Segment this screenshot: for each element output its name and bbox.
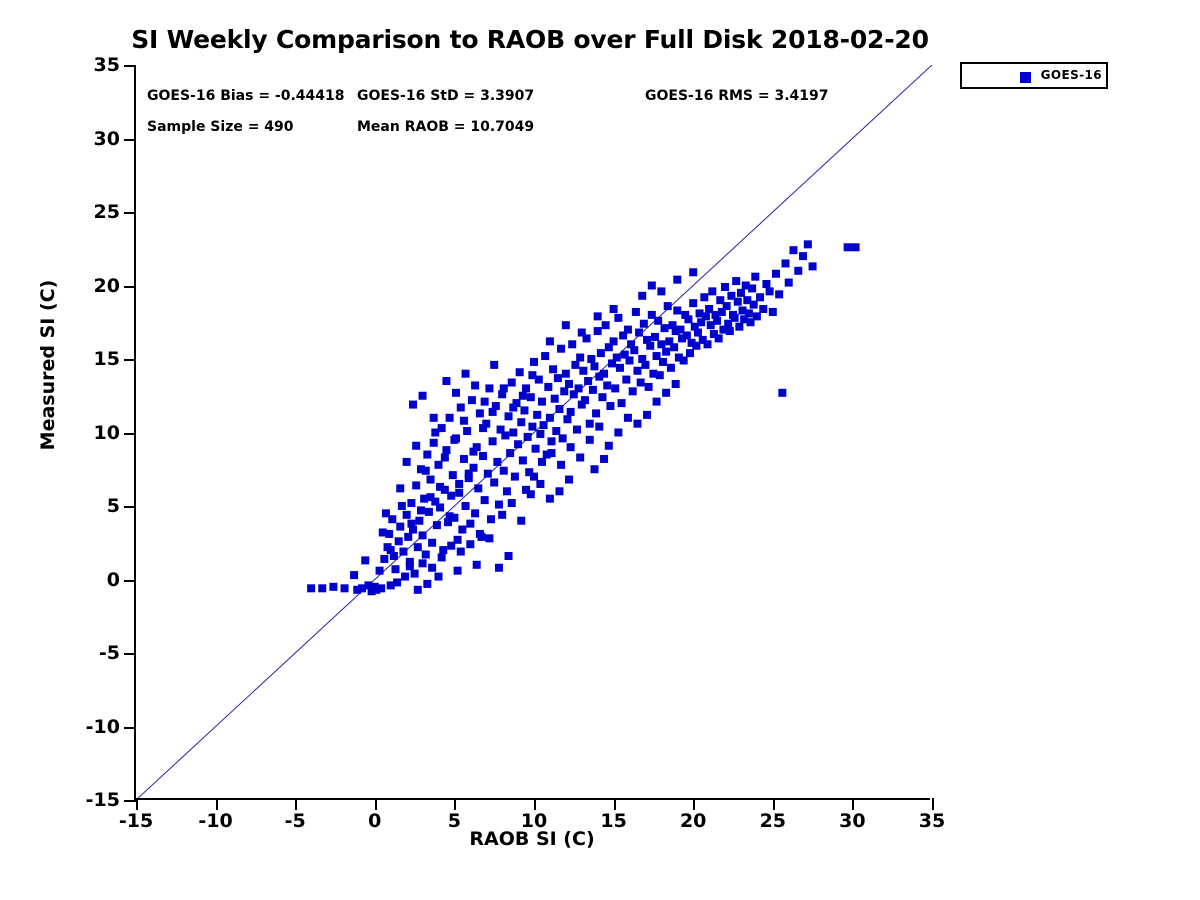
scatter-point [419,531,427,539]
scatter-point [559,434,567,442]
scatter-point [479,424,487,432]
scatter-point [527,393,535,401]
scatter-point [708,287,716,295]
scatter-point [546,337,554,345]
scatter-point [538,398,546,406]
scatter-point [508,499,516,507]
scatter-point [799,252,807,260]
scatter-point [673,306,681,314]
scatter-point [638,292,646,300]
x-axis-tick-label: 25 [760,810,786,832]
y-axis-tick [124,212,136,214]
scatter-point [700,293,708,301]
scatter-point [434,573,442,581]
scatter-point [748,284,756,292]
stat-mean-raob: Mean RAOB = 10.7049 [357,119,534,135]
scatter-point [782,259,790,267]
scatter-point [586,420,594,428]
scatter-point [427,476,435,484]
scatter-point [684,315,692,323]
scatter-point [646,342,654,350]
scatter-point [460,455,468,463]
scatter-point [476,409,484,417]
scatter-point [766,287,774,295]
y-axis-tick [124,506,136,508]
scatter-point [686,349,694,357]
scatter-point [505,552,513,560]
scatter-point [481,398,489,406]
y-axis-tick-label: 0 [107,569,120,591]
scatter-point [804,240,812,248]
x-axis-tick-label: 35 [919,810,945,832]
scatter-point [659,358,667,366]
scatter-point [399,548,407,556]
plot-area: -15-10-505101520253035-15-10-50510152025… [134,65,930,800]
scatter-point [522,384,530,392]
scatter-point [468,396,476,404]
scatter-point [750,301,758,309]
scatter-point [455,489,463,497]
scatter-point [540,421,548,429]
scatter-point [439,546,447,554]
scatter-point [414,586,422,594]
scatter-point [554,374,562,382]
y-axis-tick [124,139,136,141]
scatter-point [753,312,761,320]
scatter-point [391,565,399,573]
scatter-point [431,429,439,437]
scatter-point [732,277,740,285]
scatter-point [548,437,556,445]
scatter-point [411,570,419,578]
scatter-point [479,452,487,460]
scatter-point [419,559,427,567]
scatter-point [462,502,470,510]
scatter-point [423,451,431,459]
scatter-point [450,436,458,444]
scatter-point [562,321,570,329]
scatter-point [600,370,608,378]
scatter-point [452,389,460,397]
scatter-point [544,383,552,391]
scatter-point [489,408,497,416]
scatter-point [565,380,573,388]
y-axis-tick-label: 35 [94,54,120,76]
scatter-point [387,546,395,554]
scatter-point [614,429,622,437]
x-axis-tick [534,798,536,810]
scatter-point [715,334,723,342]
scatter-point [579,367,587,375]
y-axis-label: Measured SI (C) [37,265,59,465]
x-axis-tick-label: -5 [285,810,306,832]
scatter-point [672,380,680,388]
scatter-point [844,243,852,251]
scatter-point [485,384,493,392]
scatter-point [551,395,559,403]
scatter-point [557,345,565,353]
scatter-point [643,411,651,419]
scatter-point [611,384,619,392]
scatter-point [563,415,571,423]
scatter-point [562,370,570,378]
scatter-point [657,287,665,295]
scatter-point [735,323,743,331]
scatter-point [422,467,430,475]
scatter-point [694,329,702,337]
scatter-point [407,499,415,507]
scatter-point [721,283,729,291]
y-axis-tick-label: 15 [94,348,120,370]
scatter-point [552,427,560,435]
scatter-point [606,402,614,410]
scatter-point [487,515,495,523]
scatter-point [423,580,431,588]
y-axis-tick [124,727,136,729]
scatter-point [785,279,793,287]
scatter-point [473,561,481,569]
scatter-point [409,401,417,409]
scatter-point [622,376,630,384]
scatter-point [645,383,653,391]
scatter-point [635,329,643,337]
scatter-point [769,308,777,316]
scatter-point [493,458,501,466]
scatter-point [630,346,638,354]
scatter-point [481,496,489,504]
scatter-point [632,308,640,316]
one-to-one-line [136,65,932,800]
scatter-point [680,356,688,364]
scatter-point [589,386,597,394]
scatter-point [458,526,466,534]
scatter-point [403,458,411,466]
scatter-point [514,440,522,448]
scatter-point [449,471,457,479]
x-axis-tick [932,798,934,810]
scatter-point [329,583,337,591]
scatter-point [471,381,479,389]
x-axis-tick-label: -15 [119,810,153,832]
scatter-point [446,414,454,422]
scatter-point [457,548,465,556]
scatter-point [395,537,403,545]
scatter-point [511,473,519,481]
scatter-point [683,331,691,339]
scatter-point [489,437,497,445]
chart-title: SI Weekly Comparison to RAOB over Full D… [0,25,1060,54]
scatter-point [509,404,517,412]
scatter-point [737,289,745,297]
scatter-point [567,408,575,416]
scatter-point [626,356,634,364]
scatter-point [361,556,369,564]
scatter-point [415,517,423,525]
scatter-point [598,393,606,401]
scatter-point [624,414,632,422]
scatter-point [495,501,503,509]
scatter-point [462,370,470,378]
y-axis-tick-label: -5 [99,642,120,664]
scatter-point [427,493,435,501]
scatter-point [640,320,648,328]
scatter-point [673,276,681,284]
y-axis-tick [124,286,136,288]
scatter-point [412,481,420,489]
scatter-point [713,317,721,325]
scatter-point [524,433,532,441]
scatter-point [597,349,605,357]
scatter-point [396,523,404,531]
stat-sample-size: Sample Size = 490 [147,119,294,135]
scatter-point [442,446,450,454]
y-axis-tick [124,580,136,582]
scatter-point [406,562,414,570]
scatter-point [689,299,697,307]
scatter-point [495,564,503,572]
x-axis-tick [852,798,854,810]
stat-std: GOES-16 StD = 3.3907 [357,88,534,104]
scatter-point [590,465,598,473]
scatter-point [412,442,420,450]
scatter-point [428,539,436,547]
x-axis-tick-label: -10 [198,810,232,832]
scatter-point [379,528,387,536]
scatter-point [436,503,444,511]
scatter-point [376,567,384,575]
scatter-point [307,584,315,592]
scatter-point [751,273,759,281]
scatter-point [454,567,462,575]
scatter-point [422,551,430,559]
y-axis-tick-label: 25 [94,201,120,223]
scatter-point [667,364,675,372]
scatter-point [505,412,513,420]
scatter-point [654,317,662,325]
scatter-point [501,431,509,439]
y-axis-tick-label: 30 [94,128,120,150]
scatter-point [490,478,498,486]
scatter-point [350,571,358,579]
scatter-point [396,484,404,492]
y-axis-tick-label: 5 [107,495,120,517]
scatter-point [555,405,563,413]
scatter-point [442,377,450,385]
scatter-point [618,399,626,407]
scatter-point [476,530,484,538]
scatter-point [401,573,409,581]
y-axis-tick-label: 20 [94,275,120,297]
scatter-point [530,473,538,481]
scatter-point [651,333,659,341]
scatter-point [809,262,817,270]
scatter-point [584,377,592,385]
scatter-point [506,449,514,457]
scatter-point [546,495,554,503]
scatter-point [549,365,557,373]
scatter-point [629,387,637,395]
legend-label-goes-16: GOES-16 [962,68,1102,82]
scatter-point [576,354,584,362]
x-axis-tick-label: 5 [448,810,461,832]
scatter-point [670,343,678,351]
scatter-point [532,445,540,453]
scatter-point [571,361,579,369]
x-axis-tick [216,798,218,810]
scatter-point [414,543,422,551]
scatter-point [517,418,525,426]
scatter-point [446,512,454,520]
stat-bias: GOES-16 Bias = -0.44418 [147,88,345,104]
x-axis-tick [454,798,456,810]
scatter-canvas [136,65,932,800]
y-axis-tick-label: -10 [86,716,120,738]
scatter-point [656,371,664,379]
scatter-point [560,387,568,395]
scatter-point [530,358,538,366]
scatter-point [516,368,524,376]
scatter-point [533,411,541,419]
scatter-point [852,243,860,251]
scatter-point [318,584,326,592]
y-axis-tick-label: 10 [94,422,120,444]
scatter-point [762,280,770,288]
scatter-point [610,337,618,345]
scatter-point [433,521,441,529]
scatter-point [565,476,573,484]
scatter-point [772,270,780,278]
scatter-point [428,564,436,572]
x-axis-tick-label: 10 [521,810,547,832]
scatter-point [702,312,710,320]
scatter-point [407,520,415,528]
scatter-point [587,355,595,363]
scatter-point [380,555,388,563]
x-axis-tick [773,798,775,810]
scatter-point [592,409,600,417]
scatter-point [419,392,427,400]
scatter-point [602,321,610,329]
scatter-point [789,246,797,254]
scatter-point [463,427,471,435]
scatter-point [756,293,764,301]
scatter-point [519,456,527,464]
chart-legend: GOES-16 [960,62,1108,89]
scatter-point [398,502,406,510]
scatter-point [436,483,444,491]
scatter-point [498,511,506,519]
scatter-point [568,340,576,348]
scatter-point [466,520,474,528]
scatter-point [404,533,412,541]
scatter-point [576,453,584,461]
y-axis-tick [124,800,136,802]
x-axis-tick [136,798,138,810]
scatter-point [759,305,767,313]
scatter-point [745,309,753,317]
scatter-point [662,389,670,397]
x-axis-tick [614,798,616,810]
x-axis-tick [693,798,695,810]
scatter-point [590,362,598,370]
scatter-point [595,423,603,431]
scatter-point [657,340,665,348]
scatter-point [726,327,734,335]
scatter-point [578,329,586,337]
scatter-point [603,381,611,389]
scatter-point [664,302,672,310]
scatter-point [662,348,670,356]
scatter-point [470,448,478,456]
scatter-point [430,439,438,447]
scatter-point [425,508,433,516]
scatter-point [575,384,583,392]
scatter-point [633,367,641,375]
scatter-point [490,361,498,369]
y-axis-tick [124,653,136,655]
scatter-point [616,364,624,372]
scatter-point [555,487,563,495]
scatter-point [393,578,401,586]
scatter-point [689,268,697,276]
scatter-point [403,511,411,519]
scatter-point [441,453,449,461]
x-axis-tick-label: 20 [680,810,706,832]
scatter-point [522,486,530,494]
scatter-point [594,312,602,320]
scatter-point [573,426,581,434]
stat-rms: GOES-16 RMS = 3.4197 [645,88,829,104]
scatter-point [528,423,536,431]
scatter-point [778,389,786,397]
scatter-point [567,443,575,451]
scatter-point [509,429,517,437]
y-axis-tick [124,359,136,361]
scatter-point [382,509,390,517]
x-axis-tick-label: 15 [600,810,626,832]
scatter-point [484,470,492,478]
scatter-point [460,417,468,425]
scatter-point [447,492,455,500]
scatter-point [500,384,508,392]
scatter-point [624,326,632,334]
scatter-point [528,371,536,379]
scatter-point [520,406,528,414]
scatter-point [508,379,516,387]
y-axis-tick-label: -15 [86,789,120,811]
chart-figure: SI Weekly Comparison to RAOB over Full D… [0,0,1200,900]
scatter-point [519,392,527,400]
scatter-point [455,480,463,488]
scatter-point [775,290,783,298]
scatter-point [434,461,442,469]
scatter-point [465,470,473,478]
scatter-point [637,379,645,387]
scatter-point [341,584,349,592]
x-axis-tick-label: 0 [368,810,381,832]
scatter-point [517,517,525,525]
scatter-point [417,506,425,514]
scatter-point [661,324,669,332]
scatter-point [471,509,479,517]
scatter-point [581,396,589,404]
scatter-series-goes-16 [307,240,859,595]
scatter-point [438,553,446,561]
scatter-point [466,540,474,548]
y-axis-tick [124,433,136,435]
scatter-point [503,487,511,495]
scatter-point [610,305,618,313]
